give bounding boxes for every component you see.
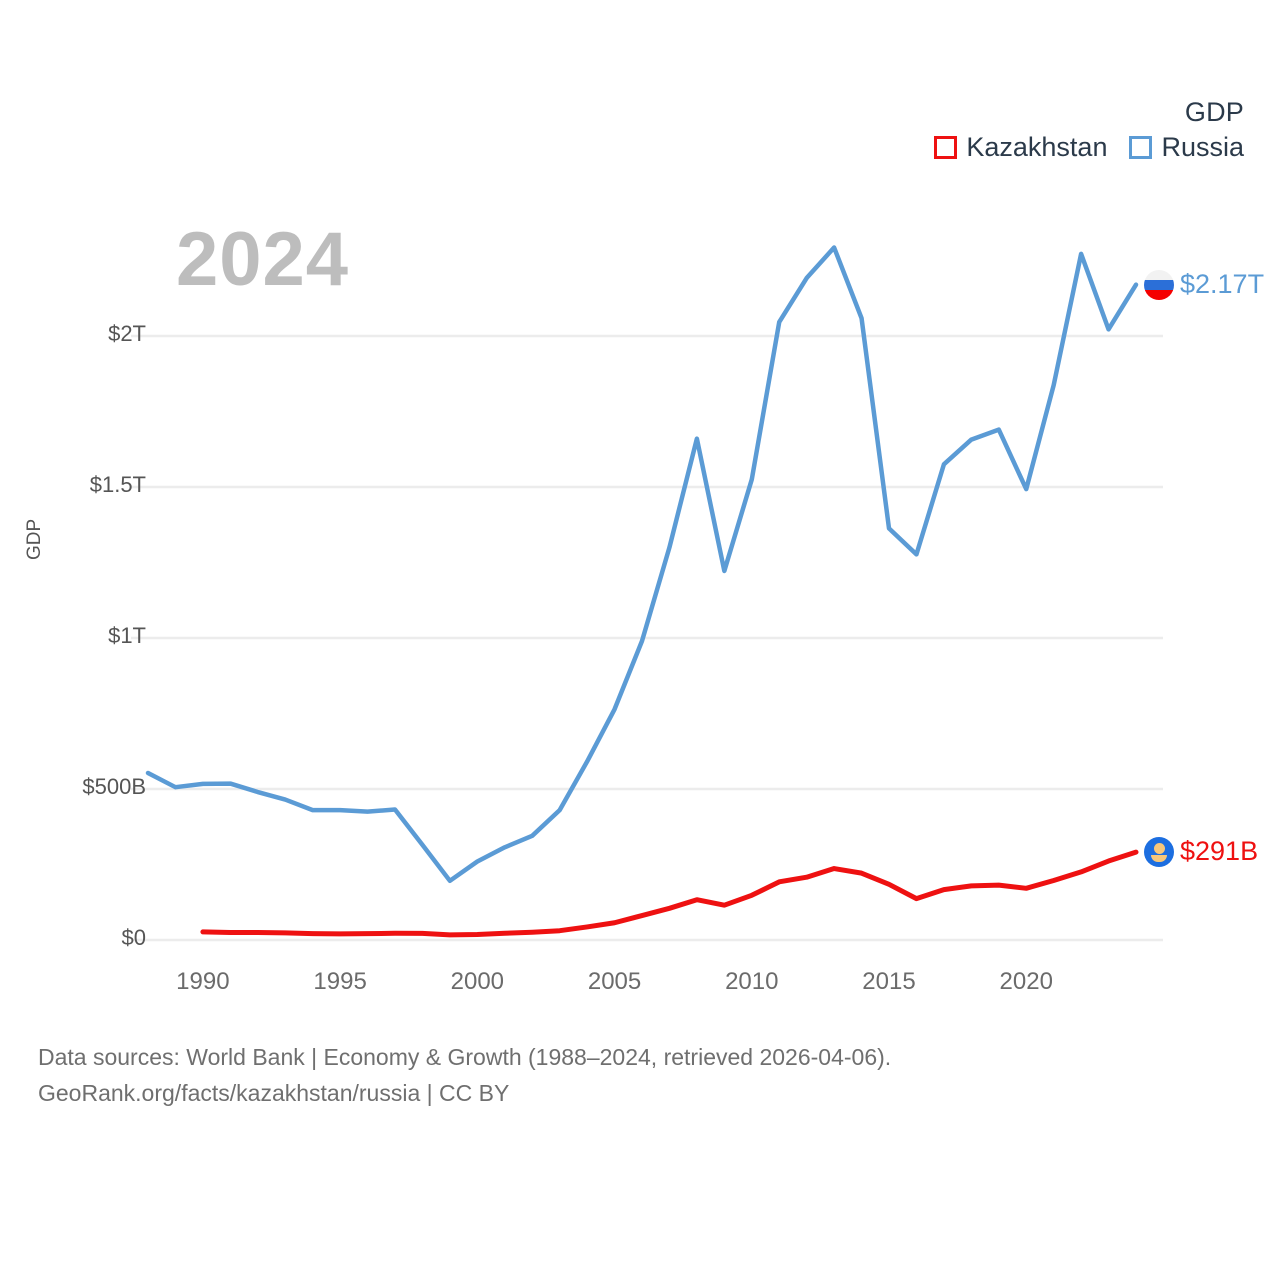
y-tick-label: $0 (0, 925, 146, 951)
kazakhstan-end-value: $291B (1180, 838, 1258, 865)
chart-canvas (0, 0, 1280, 1010)
x-tick-label: 1995 (313, 968, 366, 996)
plot-area: $0$500B$1T$1.5T$2T 199019952000200520102… (0, 0, 1280, 1010)
y-tick-label: $1T (0, 623, 146, 649)
y-tick-label: $1.5T (0, 472, 146, 498)
footer-line-2: GeoRank.org/facts/kazakhstan/russia | CC… (38, 1076, 891, 1112)
x-tick-label: 2020 (1000, 968, 1053, 996)
y-tick-label: $2T (0, 321, 146, 347)
russia-flag-icon (1144, 270, 1174, 300)
series-lines (148, 248, 1136, 935)
x-tick-label: 2005 (588, 968, 641, 996)
x-tick-label: 2010 (725, 968, 778, 996)
footer-attribution: Data sources: World Bank | Economy & Gro… (38, 1040, 891, 1111)
y-tick-label: $500B (0, 774, 146, 800)
series-line-kazakhstan (203, 852, 1136, 935)
x-tick-label: 2015 (862, 968, 915, 996)
series-line-russia (148, 248, 1136, 881)
kazakhstan-flag-icon (1144, 837, 1174, 867)
chart-root: GDP Kazakhstan Russia 2024 GDP $0$500B$1… (0, 0, 1280, 1280)
russia-end-value: $2.17T (1180, 271, 1264, 298)
x-tick-label: 1990 (176, 968, 229, 996)
gridlines (131, 336, 1163, 940)
x-tick-label: 2000 (451, 968, 504, 996)
footer-line-1: Data sources: World Bank | Economy & Gro… (38, 1040, 891, 1076)
